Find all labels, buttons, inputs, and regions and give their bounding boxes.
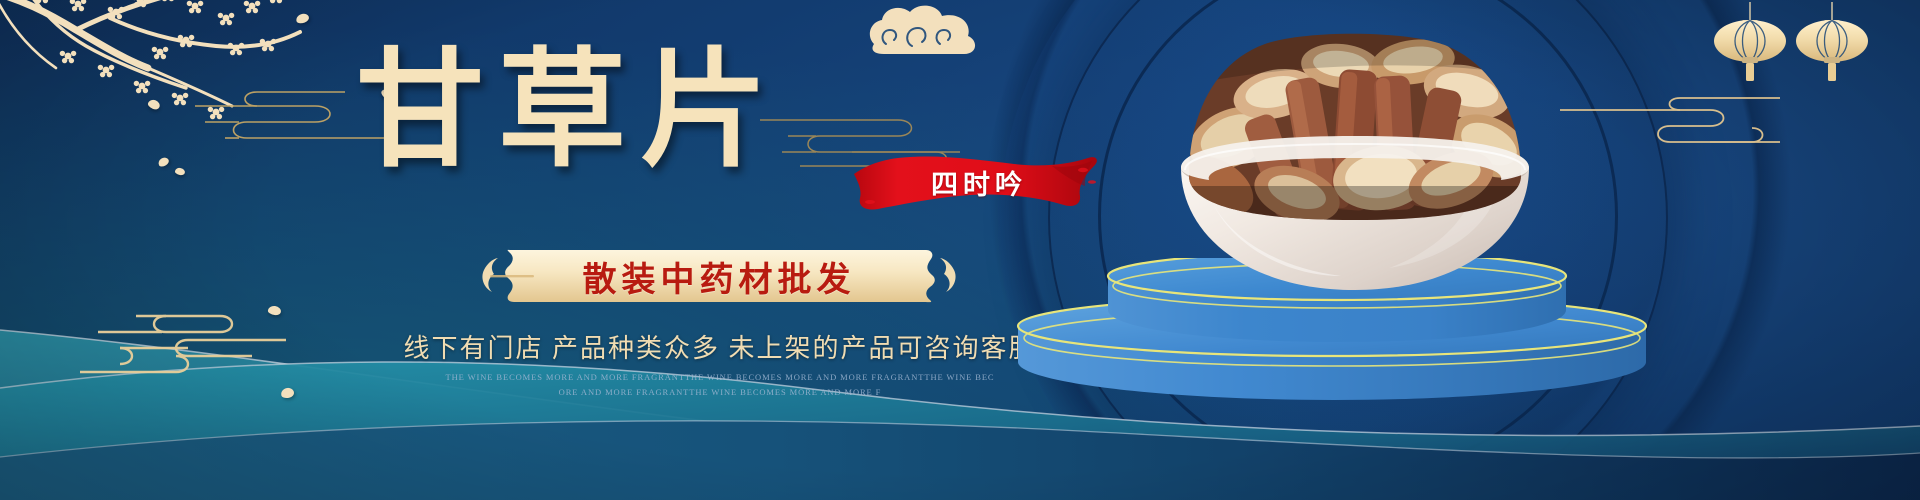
promo-banner: 甘草片 四时吟	[0, 0, 1920, 500]
chinese-lantern-icon	[1796, 2, 1868, 81]
category-pill-banner: 散装中药材批发	[478, 248, 960, 304]
ribbon-label: 四时吟	[852, 152, 1100, 214]
chinese-lantern-icon	[1714, 2, 1786, 81]
english-caption-line-1: THE WINE BECOMES MORE AND MORE FRAGRANTT…	[430, 370, 1010, 385]
pill-label: 散装中药材批发	[478, 248, 960, 304]
product-bowl	[1145, 18, 1565, 318]
english-caption: THE WINE BECOMES MORE AND MORE FRAGRANTT…	[430, 370, 1010, 400]
seasonal-ribbon-badge: 四时吟	[852, 152, 1100, 214]
subtitle-text: 线下有门店 产品种类众多 未上架的产品可咨询客服	[340, 328, 1100, 365]
english-caption-line-2: ORE AND MORE FRAGRANTTHE WINE BECOMES MO…	[430, 385, 1010, 400]
cloud-motif-right-icon	[1560, 84, 1780, 164]
licorice-slices-pile	[1174, 18, 1539, 232]
